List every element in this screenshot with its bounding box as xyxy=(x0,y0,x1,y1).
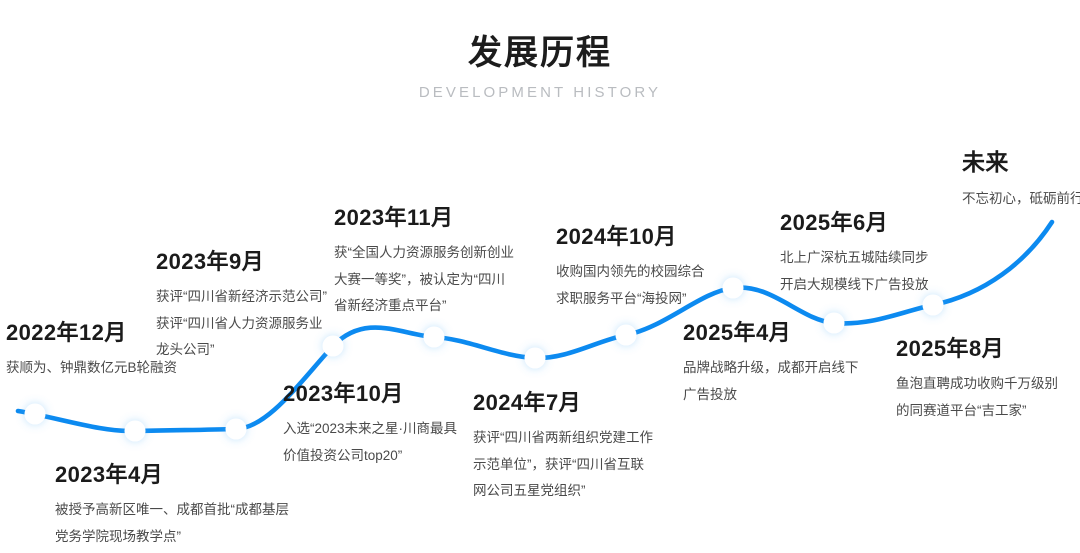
milestone-description: 获评“四川省两新组织党建工作示范单位”，获评“四川省互联网公司五星党组织” xyxy=(473,425,653,504)
milestone-description: 入选“2023未来之星·川商最具价值投资公司top20” xyxy=(283,416,457,469)
milestone-2025-04[interactable]: 2025年4月 品牌战略升级，成都开启线下广告投放 xyxy=(683,320,859,408)
milestone-2025-06[interactable]: 2025年6月 北上广深杭五城陆续同步开启大规模线下广告投放 xyxy=(780,210,929,298)
milestone-description: 鱼泡直聘成功收购千万级别的同赛道平台“吉工家” xyxy=(896,371,1058,424)
milestone-date: 2023年4月 xyxy=(55,462,289,488)
milestone-date: 2024年10月 xyxy=(556,224,705,250)
timeline-node-dot[interactable] xyxy=(527,350,544,367)
milestone-2023-11[interactable]: 2023年11月 获“全国人力资源服务创新创业大赛一等奖”，被认定为“四川省新经… xyxy=(334,205,514,319)
milestone-description: 获评“四川省新经济示范公司”获评“四川省人力资源服务业龙头公司” xyxy=(156,284,327,363)
milestone-2022-12[interactable]: 2022年12月 获顺为、钟鼎数亿元B轮融资 xyxy=(6,320,177,382)
milestone-date: 2022年12月 xyxy=(6,320,177,346)
milestone-2024-10[interactable]: 2024年10月 收购国内领先的校园综合求职服务平台“海投网” xyxy=(556,224,705,312)
node-2023-04[interactable] xyxy=(125,421,146,442)
milestone-description: 不忘初心，砥砺前行 xyxy=(962,186,1080,212)
timeline-node-dot[interactable] xyxy=(228,421,245,438)
milestone-description: 获顺为、钟鼎数亿元B轮融资 xyxy=(6,355,177,381)
milestone-date: 2023年9月 xyxy=(156,249,327,275)
node-2024-07[interactable] xyxy=(525,348,546,369)
milestone-date: 2023年11月 xyxy=(334,205,514,231)
milestone-date: 未来 xyxy=(962,149,1080,177)
milestone-2025-08[interactable]: 2025年8月 鱼泡直聘成功收购千万级别的同赛道平台“吉工家” xyxy=(896,336,1058,424)
milestone-2024-07[interactable]: 2024年7月 获评“四川省两新组织党建工作示范单位”，获评“四川省互联网公司五… xyxy=(473,390,653,504)
timeline-node-dot[interactable] xyxy=(618,327,635,344)
milestone-date: 2023年10月 xyxy=(283,381,457,407)
milestone-description: 收购国内领先的校园综合求职服务平台“海投网” xyxy=(556,259,705,312)
node-2024-10[interactable] xyxy=(616,325,637,346)
milestone-description: 获“全国人力资源服务创新创业大赛一等奖”，被认定为“四川省新经济重点平台” xyxy=(334,240,514,319)
milestone-date: 2025年4月 xyxy=(683,320,859,346)
milestone-2023-09[interactable]: 2023年9月 获评“四川省新经济示范公司”获评“四川省人力资源服务业龙头公司” xyxy=(156,249,327,363)
timeline-node-dot[interactable] xyxy=(725,280,742,297)
milestone-description: 品牌战略升级，成都开启线下广告投放 xyxy=(683,355,859,408)
timeline-node-dot[interactable] xyxy=(325,338,342,355)
node-2023-09[interactable] xyxy=(226,419,247,440)
node-2022-12[interactable] xyxy=(25,404,46,425)
node-2025-04[interactable] xyxy=(723,278,744,299)
timeline-node-dot[interactable] xyxy=(426,329,443,346)
milestone-2023-10[interactable]: 2023年10月 入选“2023未来之星·川商最具价值投资公司top20” xyxy=(283,381,457,469)
milestone-future[interactable]: 未来 不忘初心，砥砺前行 xyxy=(962,149,1080,212)
milestone-date: 2025年8月 xyxy=(896,336,1058,362)
node-2023-11[interactable] xyxy=(424,327,445,348)
milestone-description: 被授予高新区唯一、成都首批“成都基层党务学院现场教学点” xyxy=(55,497,289,550)
milestone-date: 2025年6月 xyxy=(780,210,929,236)
timeline-node-dot[interactable] xyxy=(127,423,144,440)
milestone-date: 2024年7月 xyxy=(473,390,653,416)
milestone-2023-04[interactable]: 2023年4月 被授予高新区唯一、成都首批“成都基层党务学院现场教学点” xyxy=(55,462,289,550)
timeline-node-dot[interactable] xyxy=(925,297,942,314)
timeline-node-dot[interactable] xyxy=(27,406,44,423)
milestone-description: 北上广深杭五城陆续同步开启大规模线下广告投放 xyxy=(780,245,929,298)
timeline-infographic: 发展历程 DEVELOPMENT HISTORY 2022年12月 获顺为、钟鼎… xyxy=(0,0,1080,553)
